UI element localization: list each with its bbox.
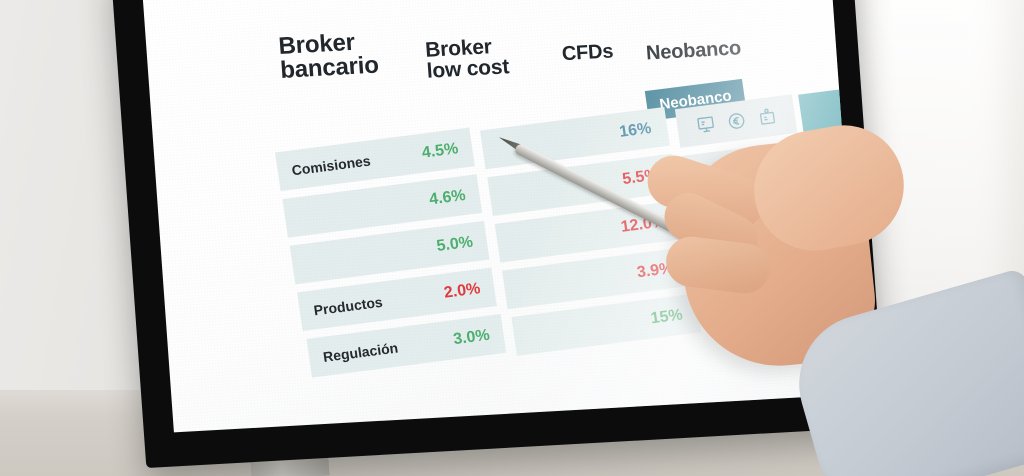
column-header-broker-bancario: Broker bancario [278, 30, 380, 84]
column-header-broker-low-cost: Broker low cost [425, 35, 510, 82]
cell-value-broker-bancario: 5.0% [435, 233, 474, 255]
cell-value-broker-bancario: 4.5% [421, 140, 460, 162]
hand-with-stylus [604, 108, 1024, 476]
row-label: Comisiones [291, 152, 372, 178]
office-scene: Broker bancario Broker low cost CFDs Neo… [0, 0, 1024, 476]
row-label: Regulación [322, 339, 399, 364]
header-line-1: Neobanco [645, 38, 741, 64]
header-line-2: low cost [426, 57, 510, 83]
column-header-cfds: CFDs [561, 41, 614, 64]
header-line-1: CFDs [561, 41, 614, 64]
column-header-neobanco: Neobanco [645, 38, 741, 64]
cell-value-broker-bancario: 2.0% [443, 280, 482, 302]
cell-value-broker-bancario: 4.6% [428, 186, 467, 208]
cell-value-broker-bancario: 3.0% [452, 326, 491, 348]
header-line-2: bancario [280, 54, 380, 84]
row-label: Productos [313, 293, 384, 318]
